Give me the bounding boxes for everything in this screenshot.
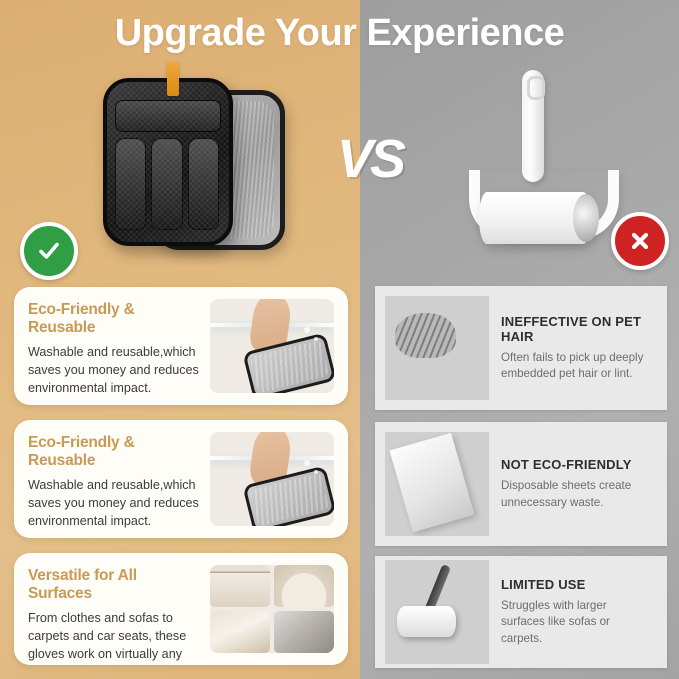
benefit-card-1-title: Eco-Friendly & Reusable bbox=[28, 301, 202, 337]
black-glove bbox=[103, 78, 233, 246]
drawback-card-1: INEFFECTIVE ON PET HAIR Often fails to p… bbox=[375, 286, 667, 410]
clothes-rack-thumb bbox=[210, 565, 270, 607]
drawback-card-2-text: NOT ECO-FRIENDLY Disposable sheets creat… bbox=[501, 457, 657, 510]
drawback-card-1-body: Often fails to pick up deeply embedded p… bbox=[501, 350, 651, 382]
drawback-card-2-title: NOT ECO-FRIENDLY bbox=[501, 457, 651, 472]
drawback-card-3-text: LIMITED USE Struggles with larger surfac… bbox=[501, 577, 657, 647]
comparison-infographic: Upgrade Your Experience VS bbox=[0, 0, 679, 679]
page-title: Upgrade Your Experience bbox=[0, 12, 679, 55]
benefit-card-3-text: Versatile for All Surfaces From clothes … bbox=[14, 553, 210, 665]
drawback-card-1-text: INEFFECTIVE ON PET HAIR Often fails to p… bbox=[501, 314, 657, 382]
benefit-card-2: Eco-Friendly & Reusable Washable and reu… bbox=[14, 420, 348, 538]
car-seats-thumb bbox=[274, 611, 334, 653]
lint-roller-on-carpet-image bbox=[385, 560, 489, 664]
glove-hang-tag bbox=[167, 62, 179, 96]
bubble bbox=[304, 327, 310, 333]
benefit-card-1-text: Eco-Friendly & Reusable Washable and reu… bbox=[14, 287, 210, 405]
benefit-card-1: Eco-Friendly & Reusable Washable and reu… bbox=[14, 287, 348, 405]
vs-label: VS bbox=[320, 128, 420, 190]
drawback-card-2: NOT ECO-FRIENDLY Disposable sheets creat… bbox=[375, 422, 667, 546]
used-adhesive-sheet-image bbox=[385, 432, 489, 536]
roller-hang-hole bbox=[527, 76, 545, 100]
benefit-card-2-body: Washable and reusable,which saves you mo… bbox=[28, 477, 202, 531]
glove-mesh-texture bbox=[107, 82, 229, 242]
drawback-card-2-body: Disposable sheets create unnecessary was… bbox=[501, 478, 651, 510]
bubble bbox=[314, 337, 318, 341]
carpet-rug-thumb bbox=[210, 611, 270, 653]
roller-end-cap bbox=[573, 194, 599, 242]
benefit-card-2-text: Eco-Friendly & Reusable Washable and reu… bbox=[14, 420, 210, 538]
drawback-card-1-title: INEFFECTIVE ON PET HAIR bbox=[501, 314, 651, 344]
beige-sofa-thumb bbox=[274, 565, 334, 607]
cross-icon bbox=[611, 212, 669, 270]
surfaces-grid-image bbox=[210, 565, 334, 653]
benefit-card-1-body: Washable and reusable,which saves you mo… bbox=[28, 344, 202, 398]
hand-washing-glove-image bbox=[210, 432, 334, 526]
drawback-card-3-title: LIMITED USE bbox=[501, 577, 651, 592]
benefit-card-2-title: Eco-Friendly & Reusable bbox=[28, 434, 202, 470]
pet-hair-remover-gloves-image bbox=[95, 68, 295, 258]
bubble bbox=[304, 460, 310, 466]
benefit-card-3: Versatile for All Surfaces From clothes … bbox=[14, 553, 348, 665]
benefit-card-3-body: From clothes and sofas to carpets and ca… bbox=[28, 610, 202, 665]
bubble bbox=[314, 470, 318, 474]
drawback-card-3-body: Struggles with larger surfaces like sofa… bbox=[501, 598, 651, 647]
benefit-card-3-title: Versatile for All Surfaces bbox=[28, 567, 202, 603]
hand-washing-glove-image bbox=[210, 299, 334, 393]
check-icon bbox=[20, 222, 78, 280]
drawback-card-3: LIMITED USE Struggles with larger surfac… bbox=[375, 556, 667, 668]
cat-on-blanket-image bbox=[385, 296, 489, 400]
lint-roller-image bbox=[455, 66, 630, 266]
